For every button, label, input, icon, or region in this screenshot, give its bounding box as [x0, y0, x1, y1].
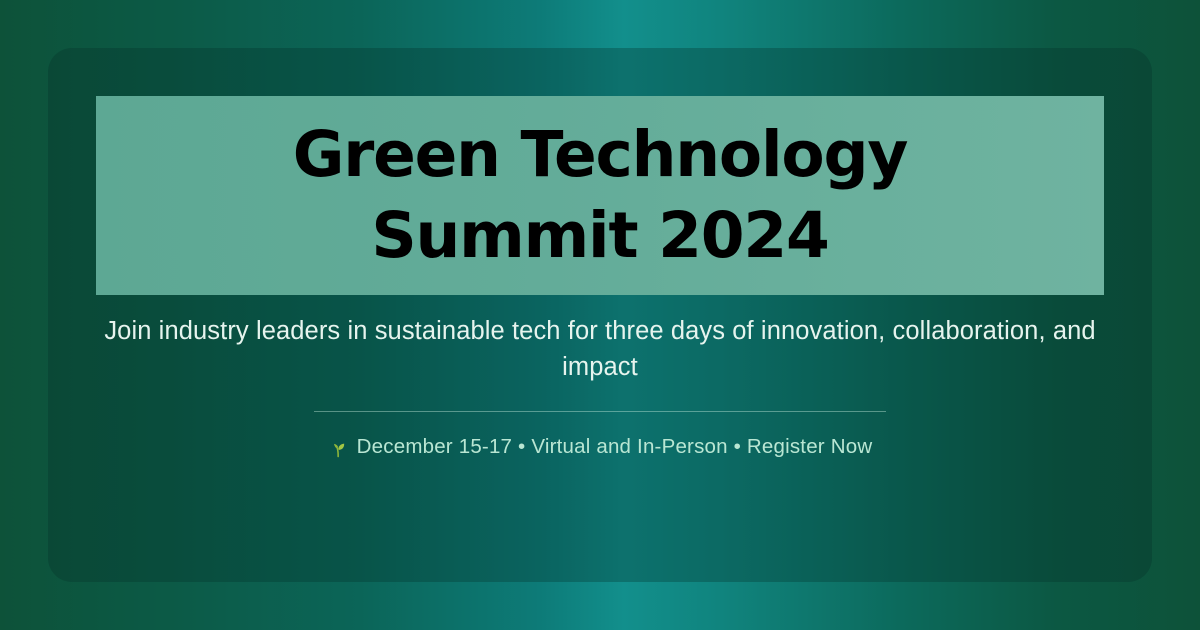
banner-card: Green Technology Summit 2024 Join indust… — [48, 48, 1152, 582]
event-meta: December 15-17 • Virtual and In-Person •… — [48, 434, 1152, 461]
event-banner: Green Technology Summit 2024 Join indust… — [0, 0, 1200, 630]
event-meta-text: December 15-17 • Virtual and In-Person •… — [357, 434, 873, 461]
page-title: Green Technology Summit 2024 — [269, 115, 932, 276]
title-band: Green Technology Summit 2024 — [96, 96, 1104, 295]
seedling-icon — [328, 439, 348, 459]
divider — [314, 411, 886, 412]
subtitle: Join industry leaders in sustainable tec… — [95, 313, 1105, 385]
banner-body: Join industry leaders in sustainable tec… — [48, 313, 1152, 461]
